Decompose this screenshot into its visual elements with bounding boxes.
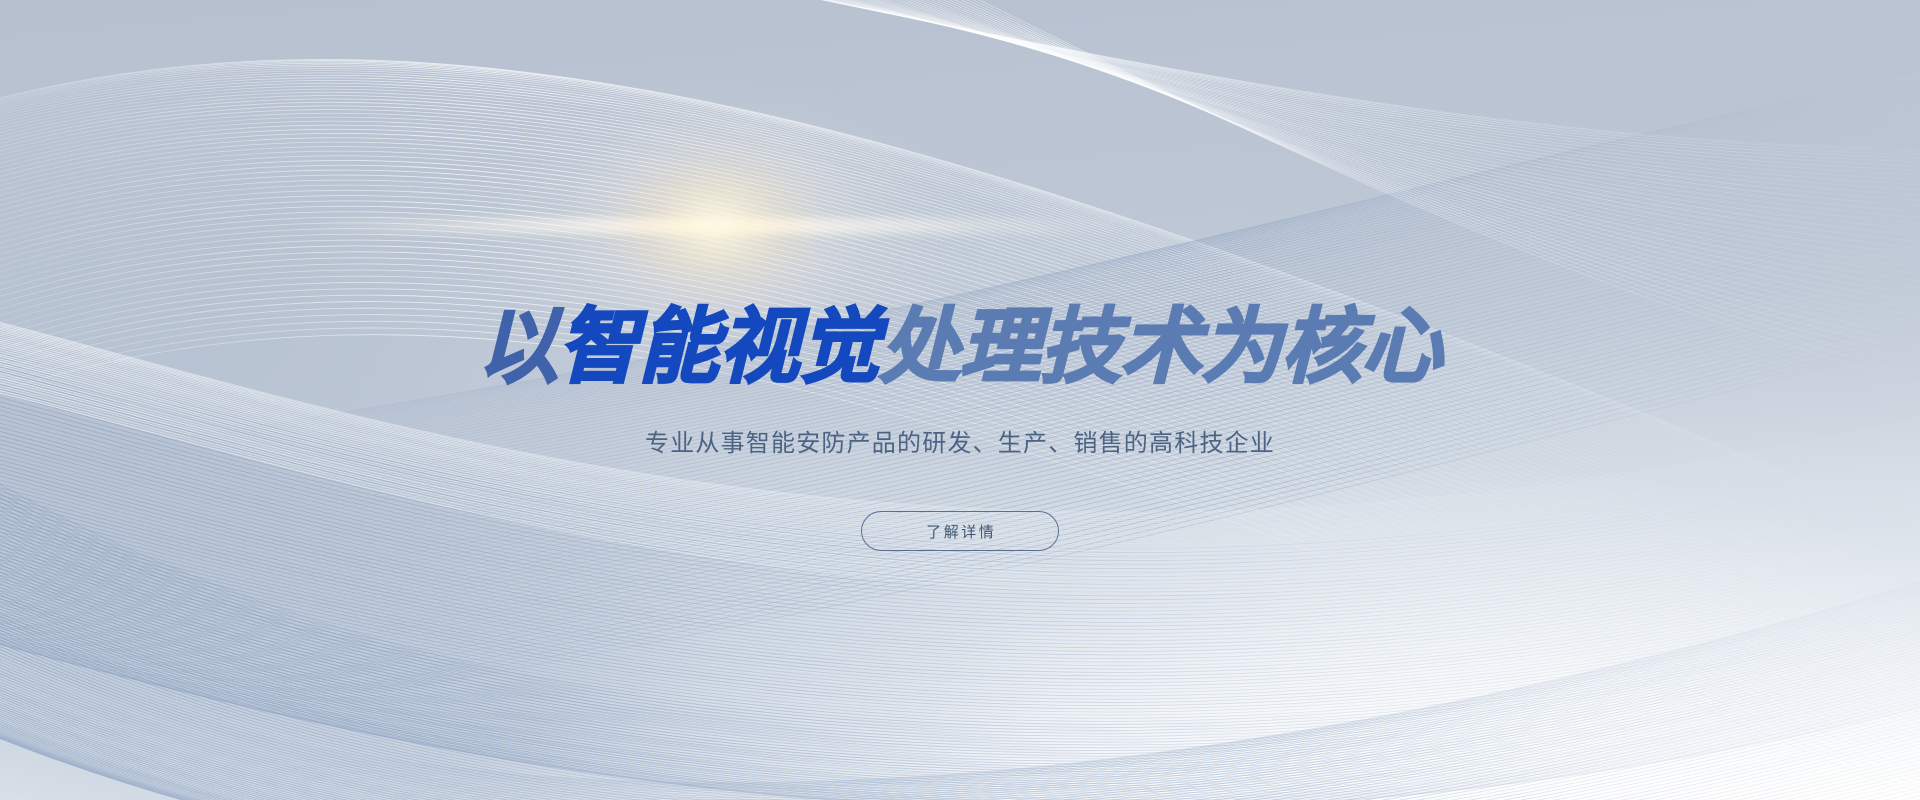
background-tint-overlay [0,0,1920,800]
headline-segment-lead: 以 [478,307,558,389]
hero-banner: 以智能视觉处理技术为核心 专业从事智能安防产品的研发、生产、销售的高科技企业 了… [0,0,1920,800]
learn-more-button[interactable]: 了解详情 [861,511,1059,551]
page-subtitle: 专业从事智能安防产品的研发、生产、销售的高科技企业 [0,428,1920,459]
page-title: 以智能视觉处理技术为核心 [19,307,1901,389]
hero-content: 以智能视觉处理技术为核心 专业从事智能安防产品的研发、生产、销售的高科技企业 了… [0,0,1920,800]
headline-segment-tail: 处理技术为核心 [880,307,1443,389]
lens-flare-streak [300,218,1130,234]
cta-container: 了解详情 [0,511,1920,551]
wave-strand-background [0,0,1920,800]
headline-segment-accent: 智能视觉 [558,307,879,389]
